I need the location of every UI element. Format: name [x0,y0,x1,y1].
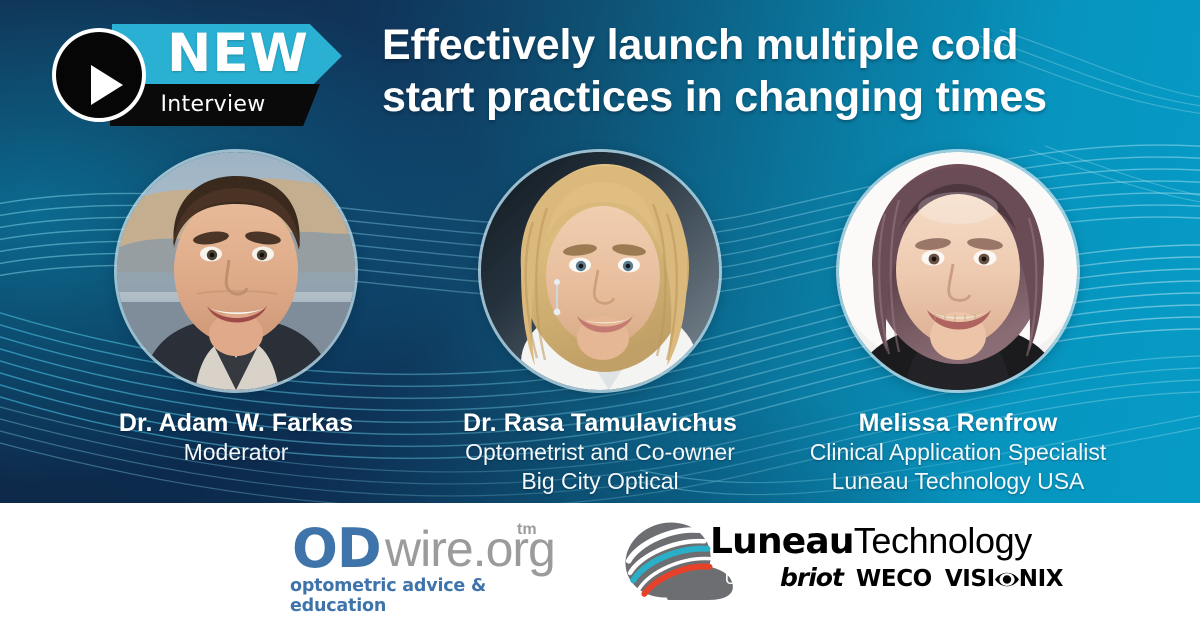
eye-icon [994,570,1020,594]
luneau-wordmark: LuneauTechnology [710,520,1032,562]
avatar [839,152,1077,390]
speaker-card: Dr. Rasa Tamulavichus Optometrist and Co… [420,148,780,495]
trademark-symbol: tm [517,521,537,539]
brand-visionix-suffix: NIX [1019,566,1063,592]
odwire-tagline: optometric advice & education [290,576,586,616]
speaker-card: Melissa Renfrow Clinical Application Spe… [778,148,1138,495]
new-interview-badge: NEW Interview [52,22,352,134]
brand-visionix-prefix: VISI [945,566,995,592]
avatar-photo-tamulavichus [481,152,719,390]
luneau-region-label: USA [709,566,777,592]
speaker-role: Clinical Application Specialist [778,438,1138,467]
luneau-bold-text: Luneau [710,521,854,562]
brand-visionix: VISINIX [945,566,1063,594]
brand-list: briotWECOVISINIX [780,563,1063,594]
badge-new-label: NEW [148,24,328,88]
speaker-name: Dr. Adam W. Farkas [56,409,416,438]
odwire-wordmark: OD wire.org tm [286,517,586,579]
brand-weco: WECO [856,566,932,592]
avatar [481,152,719,390]
odwire-logo[interactable]: OD wire.org tm optometric advice & educa… [286,517,586,613]
luneau-technology-logo[interactable]: LuneauTechnology USA briotWECOVISINIX [622,518,1022,610]
avatar [117,152,355,390]
page-title: Effectively launch multiple cold start p… [382,19,1122,124]
footer-logo-bar: OD wire.org tm optometric advice & educa… [0,503,1200,627]
speaker-card: Dr. Adam W. Farkas Moderator [56,148,416,467]
play-button-circle[interactable] [52,28,146,122]
speaker-org: Big City Optical [420,467,780,496]
speaker-list: Dr. Adam W. Farkas Moderator [0,148,1200,498]
odwire-od-text: OD [292,517,381,580]
badge-interview-label: Interview [118,84,308,126]
speaker-name: Dr. Rasa Tamulavichus [420,409,780,438]
speaker-name: Melissa Renfrow [778,409,1138,438]
brand-briot: briot [780,563,843,592]
speaker-org: Luneau Technology USA [778,467,1138,496]
speaker-role: Optometrist and Co-owner [420,438,780,467]
promo-graphic: NEW Interview Effectively launch multipl… [0,0,1200,627]
speaker-role: Moderator [56,438,416,467]
avatar-photo-farkas [117,152,355,390]
avatar-photo-renfrow [839,152,1077,390]
luneau-light-text: Technology [854,520,1032,561]
play-triangle-icon [91,65,123,105]
